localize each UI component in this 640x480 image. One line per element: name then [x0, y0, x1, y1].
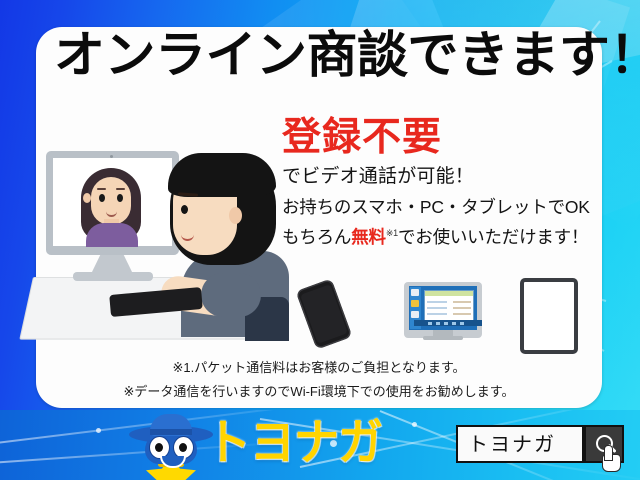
pc-window-line — [453, 313, 471, 315]
bar-node — [96, 428, 101, 433]
copy-highlight: 登録不要 — [282, 118, 602, 159]
man-eye — [181, 205, 188, 214]
mascot-pupil — [179, 443, 187, 452]
footnote-1: ※1.パケット通信料はお客様のご負担となります。 — [36, 357, 602, 376]
copy-line-3-prefix: もちろん — [282, 227, 351, 247]
man-ear — [229, 207, 242, 224]
page-title: オンライン商談できます！ — [54, 30, 605, 80]
search-input-value: トヨナガ — [468, 434, 556, 456]
smartphone-icon — [296, 278, 353, 349]
video-call-illustration — [33, 131, 283, 341]
copy-line-3-free: 無料 — [351, 227, 386, 247]
pc-desktop-icon — [411, 289, 419, 296]
search-widget[interactable]: トヨナガ — [456, 425, 624, 463]
pc-window-line — [427, 313, 447, 315]
mascot-pupil — [155, 443, 163, 452]
pc-desktop-icon — [411, 311, 419, 318]
taskbar-item — [436, 322, 440, 325]
supported-devices — [300, 278, 600, 350]
search-input[interactable]: トヨナガ — [456, 425, 584, 463]
woman-eye — [99, 194, 105, 202]
brand-logo: トヨナガ — [206, 418, 382, 467]
copy-line-3: もちろん無料※1でお使いいただけます！ — [282, 224, 602, 250]
copy-line-3-footnote-marker: ※1 — [386, 228, 398, 238]
smartphone-screen — [300, 284, 348, 344]
taskbar-item — [452, 322, 456, 325]
marketing-copy: 登録不要 でビデオ通話が可能！ お持ちのスマホ・PC・タブレットでOK もちろん… — [282, 118, 602, 250]
woman-ear — [83, 193, 91, 203]
monitor-base — [73, 272, 153, 281]
pc-window-line — [453, 307, 471, 309]
pc-base — [423, 336, 463, 340]
pointing-hand-cursor-icon — [600, 445, 622, 471]
advertisement-banner: オンライン商談できます！ 登録不要 でビデオ通話が可能！ お持 — [0, 0, 640, 480]
pc-window-line — [427, 301, 447, 303]
woman-torso — [86, 223, 138, 247]
taskbar-item — [444, 322, 448, 325]
copy-line-2: お持ちのスマホ・PC・タブレットでOK — [282, 194, 602, 220]
taskbar-item — [460, 322, 464, 325]
bar-node — [412, 422, 417, 427]
woman-face — [91, 177, 131, 225]
pc-window-line — [453, 301, 471, 303]
cursor-finger — [604, 445, 613, 461]
pc-window-line — [427, 307, 447, 309]
woman-eyebrow — [116, 188, 125, 190]
desktop-pc-icon — [404, 282, 482, 338]
copy-line-1: でビデオ通話が可能！ — [282, 163, 602, 192]
taskbar-item — [428, 322, 432, 325]
man-sleeve — [201, 273, 261, 317]
copy-line-3-suffix: でお使いいただけます！ — [398, 227, 588, 247]
mascot-hat-band — [150, 429, 192, 435]
man-hair-front — [168, 153, 276, 197]
woman-eyebrow — [97, 188, 106, 190]
pc-folder-icon — [411, 300, 419, 307]
mascot-character — [128, 414, 214, 480]
tablet-icon — [520, 278, 578, 354]
woman-eye — [117, 194, 123, 202]
pc-screen — [409, 286, 477, 330]
footnote-2: ※データ通信を行いますのでWi-Fi環境下での使用をお勧めします。 — [36, 381, 602, 400]
pc-window-titlebar — [425, 291, 473, 296]
pc-taskbar — [414, 320, 482, 326]
